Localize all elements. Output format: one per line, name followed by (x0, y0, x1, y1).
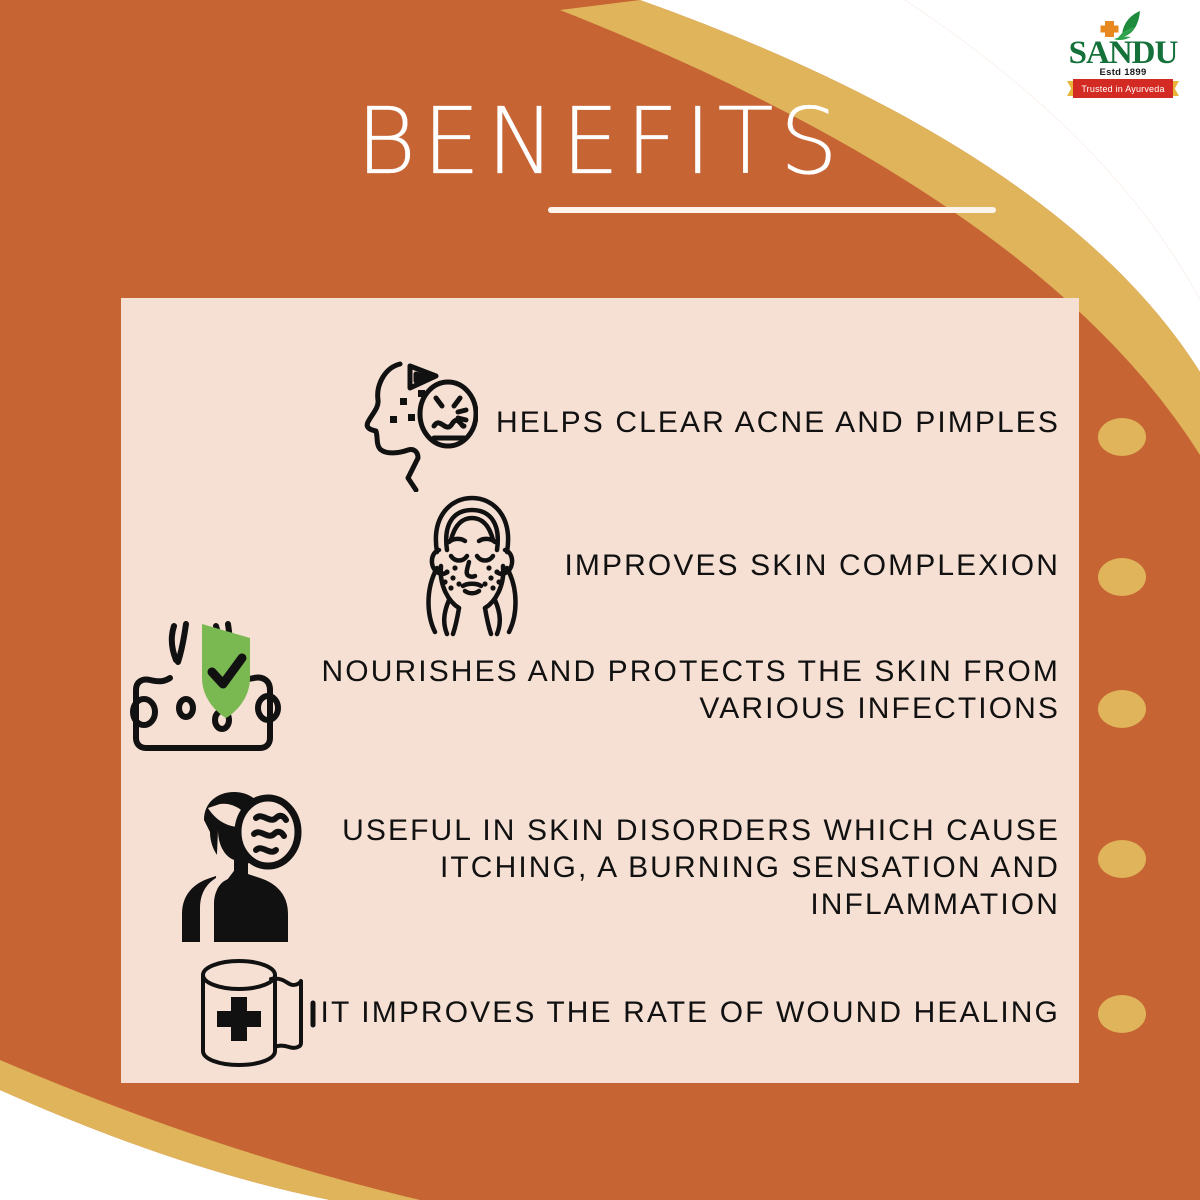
face-profile-acne-icon (338, 352, 478, 492)
brand-tagline: Trusted in Ayurveda (1081, 84, 1164, 94)
shield-check-skin-icon (128, 620, 308, 760)
gold-ellipse-decor-4 (1098, 840, 1146, 878)
bandage-roll-cross-icon (187, 955, 317, 1070)
benefit-row-wound-healing: IT IMPROVES THE RATE OF WOUND HEALING (121, 955, 1060, 1070)
benefit-text-wound-healing: IT IMPROVES THE RATE OF WOUND HEALING (321, 994, 1060, 1031)
person-magnifier-skin-icon (174, 790, 324, 945)
benefit-row-complexion: IMPROVES SKIN COMPLEXION (121, 490, 1060, 640)
benefit-row-nourish-protect: NOURISHES AND PROTECTS THE SKIN FROM VAR… (121, 620, 1060, 760)
gold-ellipse-decor-5 (1098, 995, 1146, 1033)
benefits-poster: SANDU Estd 1899 Trusted in Ayurveda BENE… (0, 0, 1200, 1200)
benefit-text-nourish-protect: NOURISHES AND PROTECTS THE SKIN FROM VAR… (322, 653, 1060, 727)
title-underline-rule (548, 207, 996, 213)
benefit-text-complexion: IMPROVES SKIN COMPLEXION (565, 547, 1061, 584)
gold-ellipse-decor-3 (1098, 690, 1146, 728)
woman-face-complexion-icon (397, 490, 547, 640)
benefit-row-acne: HELPS CLEAR ACNE AND PIMPLES (121, 352, 1060, 492)
gold-ellipse-decor-2 (1098, 558, 1146, 596)
gold-ellipse-decor-1 (1098, 418, 1146, 456)
page-title: BENEFITS (0, 96, 1200, 188)
brand-logo: SANDU Estd 1899 Trusted in Ayurveda (1060, 10, 1186, 106)
benefit-row-skin-disorders: USEFUL IN SKIN DISORDERS WHICH CAUSE ITC… (121, 790, 1060, 945)
page-title-wrap: BENEFITS (0, 96, 1200, 188)
brand-wordmark: SANDU (1069, 38, 1178, 68)
benefit-text-skin-disorders: USEFUL IN SKIN DISORDERS WHICH CAUSE ITC… (342, 812, 1060, 923)
benefit-text-acne: HELPS CLEAR ACNE AND PIMPLES (496, 404, 1060, 441)
